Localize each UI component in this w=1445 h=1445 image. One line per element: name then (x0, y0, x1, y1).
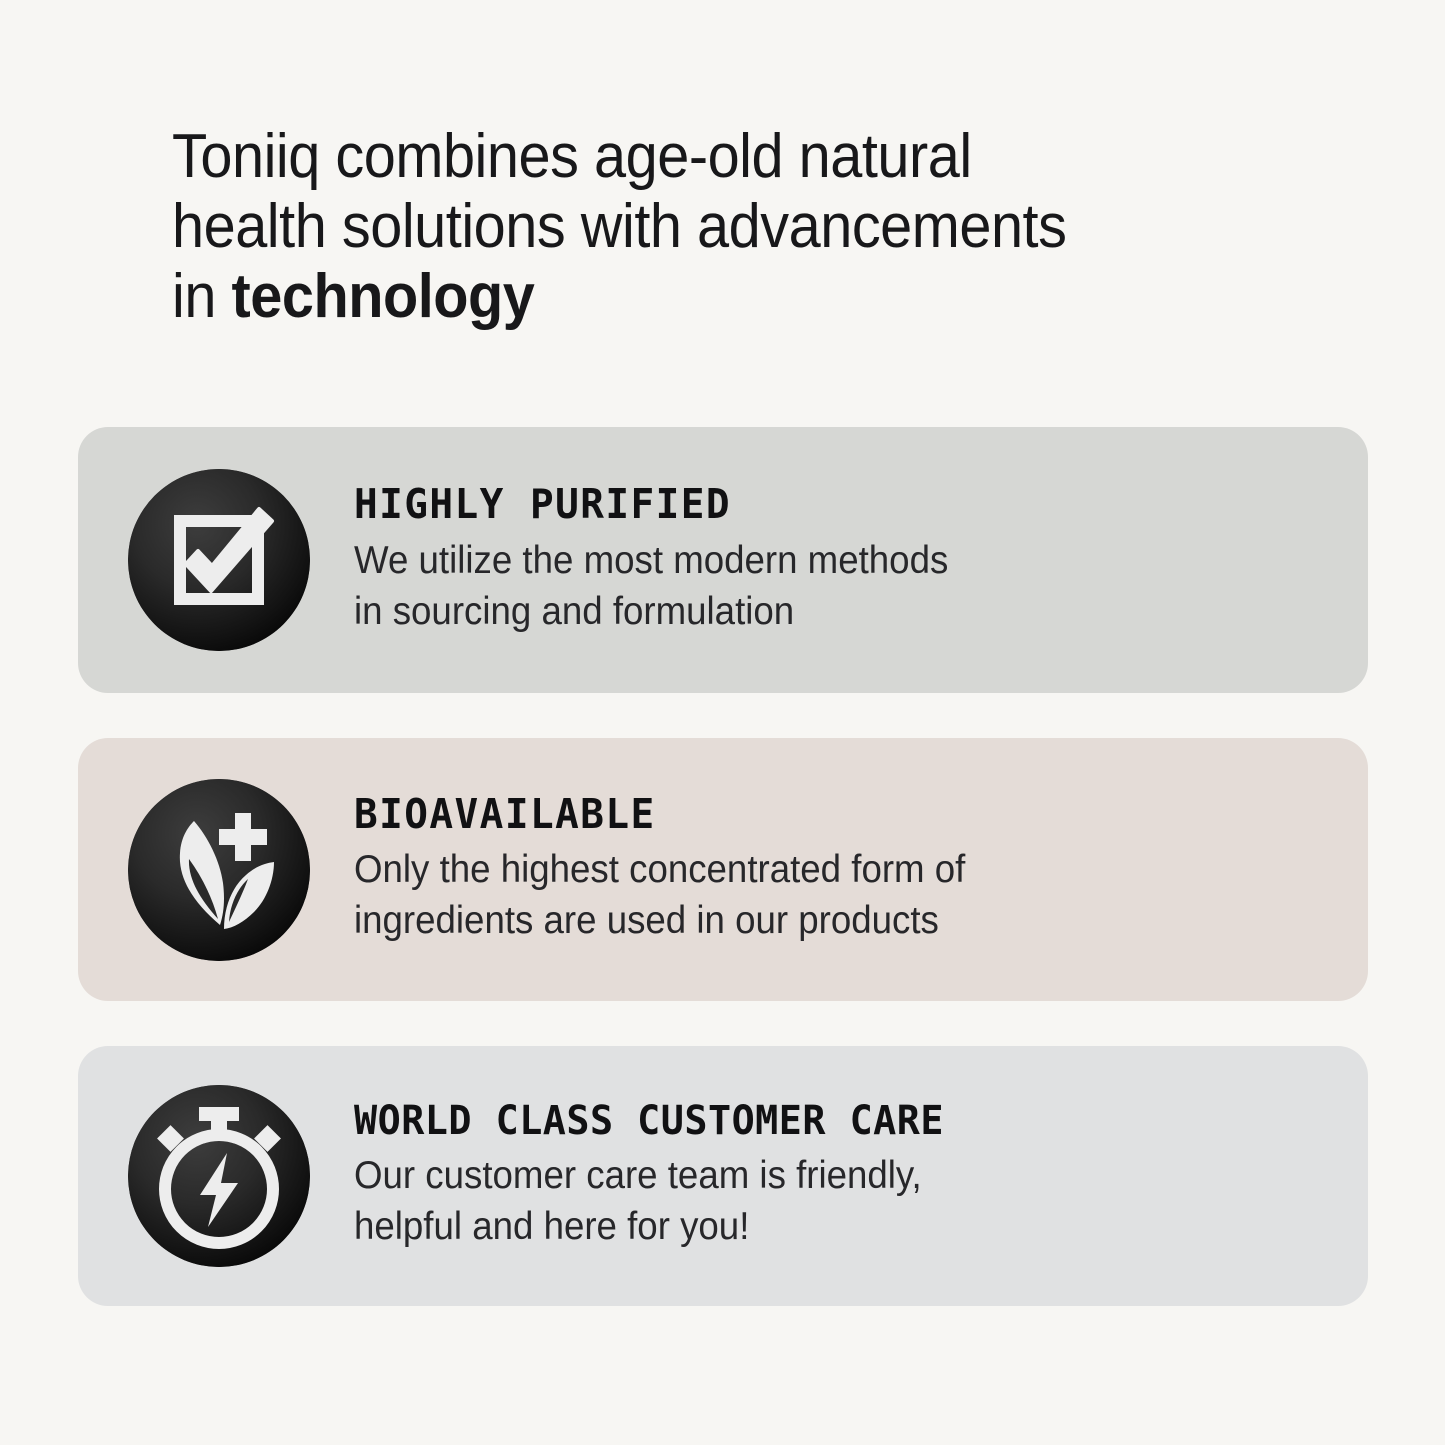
card-text-block: HIGHLY PURIFIED We utilize the most mode… (354, 483, 1338, 636)
feature-card-customer-care: WORLD CLASS CUSTOMER CARE Our customer c… (78, 1046, 1368, 1306)
card-title: HIGHLY PURIFIED (354, 483, 1299, 526)
stopwatch-bolt-icon (128, 1085, 310, 1267)
page-headline: Toniiq combines age-old natural health s… (172, 122, 1111, 332)
card-text-block: WORLD CLASS CUSTOMER CARE Our customer c… (354, 1100, 1338, 1252)
card-body: Only the highest concentrated form of in… (354, 844, 1279, 946)
infographic-page: Toniiq combines age-old natural health s… (0, 0, 1445, 1445)
checkbox-check-icon (128, 469, 310, 651)
headline-line-1: Toniiq combines age-old natural (172, 122, 972, 191)
headline-line-2: health solutions with advancements (172, 192, 1066, 261)
card-body: We utilize the most modern methods in so… (354, 535, 1279, 637)
headline-line-3-prefix: in (172, 262, 232, 331)
headline-emphasis: technology (232, 262, 535, 331)
feature-card-highly-purified: HIGHLY PURIFIED We utilize the most mode… (78, 427, 1368, 693)
card-title: WORLD CLASS CUSTOMER CARE (354, 1100, 1299, 1142)
card-title: BIOAVAILABLE (354, 793, 1299, 836)
leaf-plus-icon (128, 779, 310, 961)
feature-card-bioavailable: BIOAVAILABLE Only the highest concentrat… (78, 738, 1368, 1001)
card-text-block: BIOAVAILABLE Only the highest concentrat… (354, 793, 1338, 946)
card-body: Our customer care team is friendly, help… (354, 1150, 1279, 1252)
